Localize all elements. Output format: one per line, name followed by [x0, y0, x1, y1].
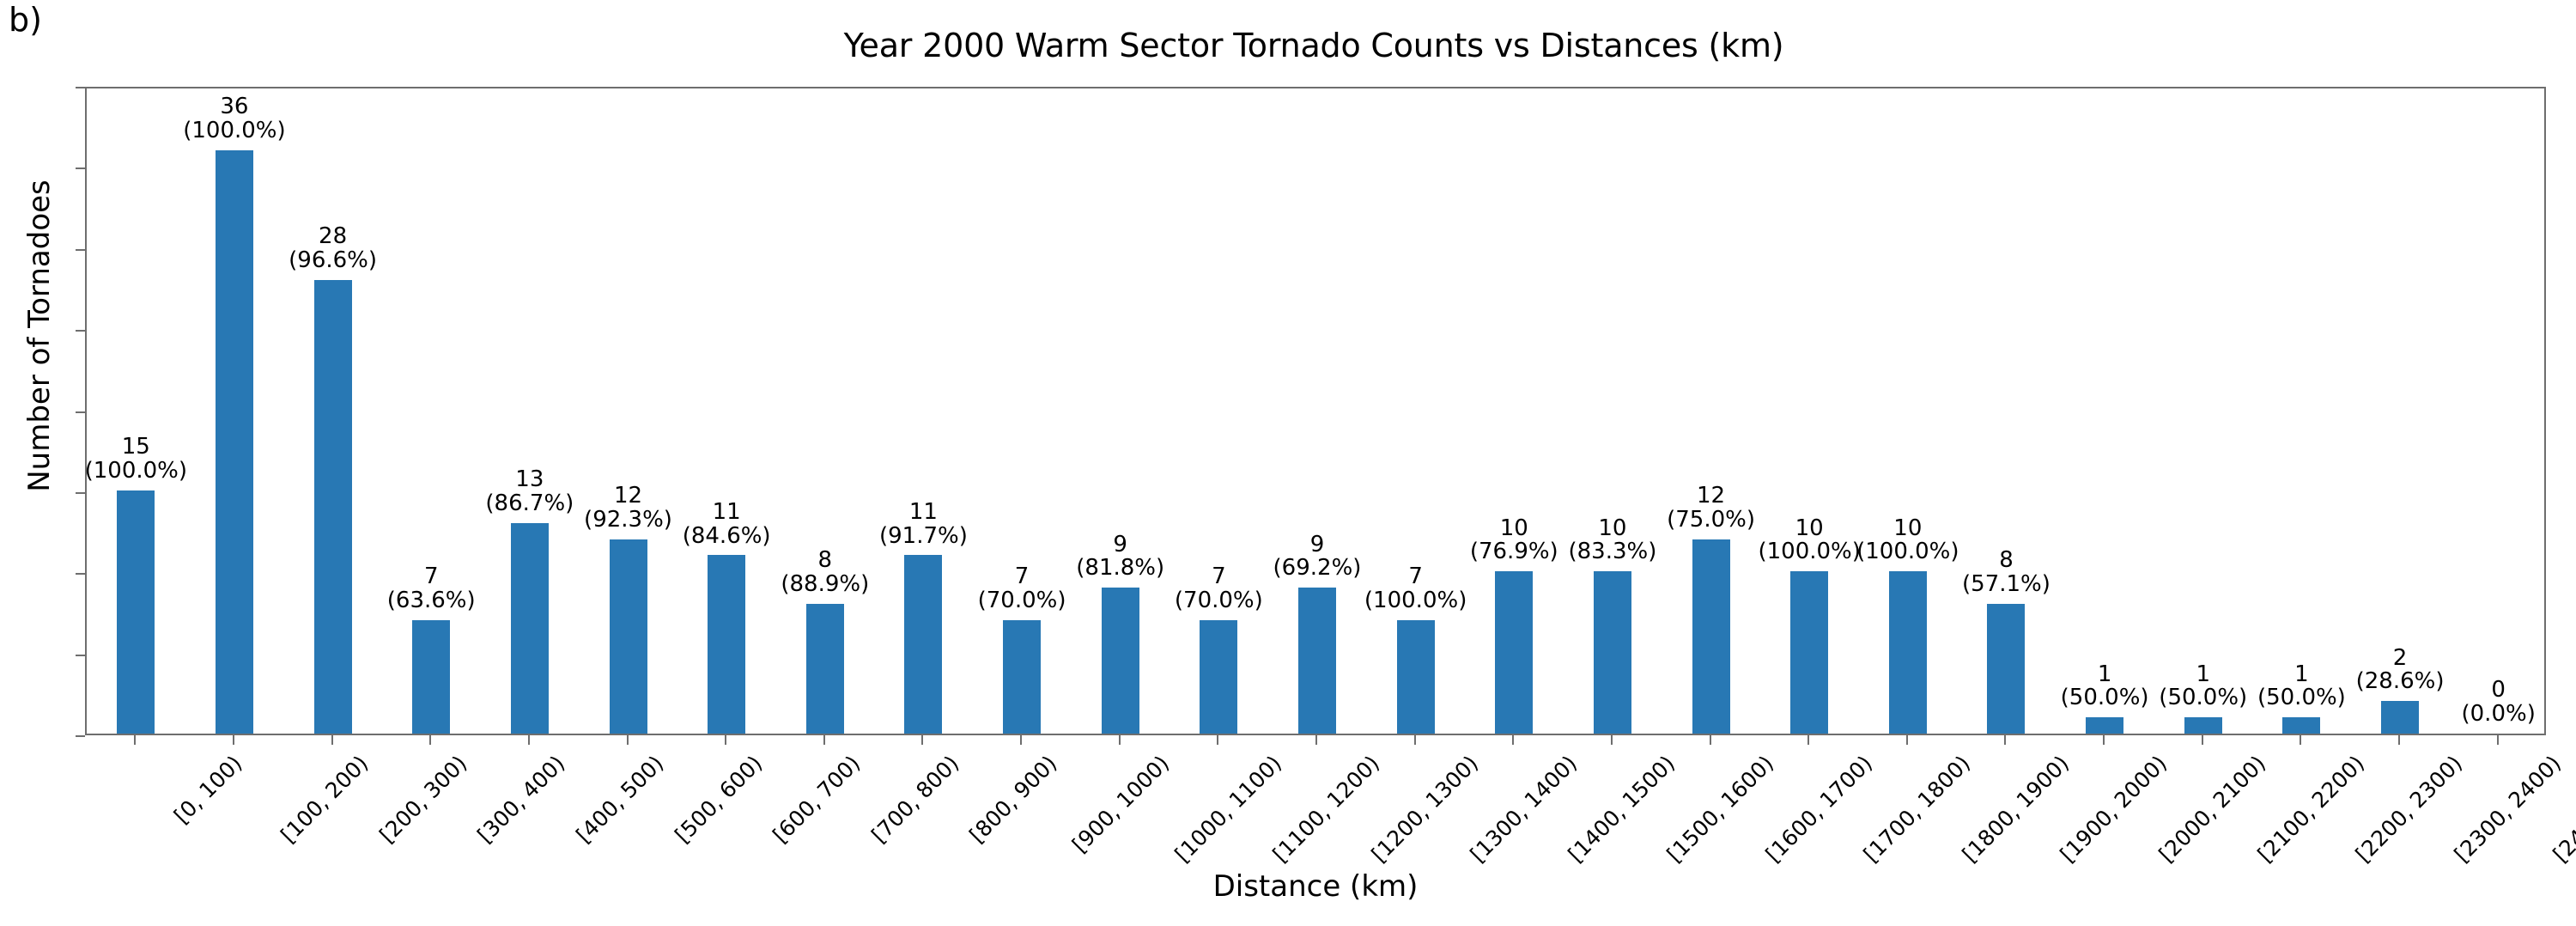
bar[interactable]	[1298, 588, 1336, 734]
bar-count: 12	[1667, 484, 1755, 509]
bar-percent: (50.0%)	[2061, 686, 2149, 710]
bar-slot: 15(100.0%)	[87, 88, 185, 734]
y-tick-mark	[76, 168, 85, 169]
x-tick-label: [700, 800)	[866, 751, 963, 848]
y-tick-mark	[76, 573, 85, 575]
bar-count: 1	[2061, 663, 2149, 687]
bar[interactable]	[904, 555, 942, 734]
bar-slot: 7(70.0%)	[973, 88, 1072, 734]
bar-count: 8	[1962, 549, 2050, 573]
bar-value-label: 9(69.2%)	[1273, 533, 1362, 582]
bar-percent: (50.0%)	[2257, 686, 2346, 710]
bar-value-label: 9(81.8%)	[1076, 533, 1164, 582]
x-tick-mark	[1512, 735, 1514, 745]
x-tick-label: [500, 600)	[670, 751, 767, 848]
bar-percent: (70.0%)	[978, 589, 1066, 613]
bar-value-label: 15(100.0%)	[85, 436, 187, 484]
bar[interactable]	[1102, 588, 1139, 734]
bar-percent: (86.7%)	[485, 492, 574, 516]
bar-count: 0	[2462, 679, 2536, 703]
panel-letter: b)	[9, 3, 42, 36]
bar-value-label: 7(70.0%)	[1175, 565, 1263, 613]
x-tick-label: [200, 300)	[374, 751, 471, 848]
bar[interactable]	[2184, 717, 2222, 734]
bar-count: 10	[1568, 517, 1656, 541]
x-tick-mark	[1119, 735, 1121, 745]
x-tick-label: [400, 500)	[571, 751, 668, 848]
bar-slot: 1(50.0%)	[2154, 88, 2252, 734]
bar-value-label: 10(100.0%)	[1758, 517, 1860, 565]
x-tick-mark	[1906, 735, 1908, 745]
x-tick-mark	[627, 735, 629, 745]
bar-percent: (0.0%)	[2462, 703, 2536, 727]
bar[interactable]	[2282, 717, 2320, 734]
x-tick-mark	[2202, 735, 2203, 745]
bar-count: 15	[85, 436, 187, 460]
x-tick-mark	[2398, 735, 2400, 745]
x-tick-mark	[1315, 735, 1317, 745]
bar-percent: (50.0%)	[2159, 686, 2247, 710]
bar[interactable]	[1594, 571, 1631, 734]
x-tick-mark	[823, 735, 825, 745]
x-axis-label: Distance (km)	[85, 869, 2546, 904]
bar[interactable]	[314, 280, 352, 734]
bar[interactable]	[216, 150, 253, 734]
bar-slot: 12(75.0%)	[1662, 88, 1760, 734]
bar-percent: (92.3%)	[584, 509, 672, 533]
y-tick-mark	[76, 655, 85, 656]
plot-area: 15(100.0%)36(100.0%)28(96.6%)7(63.6%)13(…	[85, 87, 2546, 735]
bar-count: 9	[1076, 533, 1164, 557]
bar-count: 11	[879, 501, 968, 525]
bar-percent: (69.2%)	[1273, 557, 1362, 581]
bar-value-label: 2(28.6%)	[2356, 647, 2445, 695]
bars-layer: 15(100.0%)36(100.0%)28(96.6%)7(63.6%)13(…	[87, 88, 2544, 734]
bar-percent: (100.0%)	[1364, 589, 1467, 613]
bar[interactable]	[1003, 620, 1041, 734]
bar-percent: (91.7%)	[879, 525, 968, 549]
x-tick-label: [300, 400)	[473, 751, 570, 848]
bar[interactable]	[2086, 717, 2123, 734]
bar-value-label: 0(0.0%)	[2462, 679, 2536, 727]
x-tick-label: [100, 200)	[276, 751, 373, 848]
x-tick-mark	[2497, 735, 2499, 745]
y-tick-mark	[76, 249, 85, 251]
x-tick-mark	[1807, 735, 1809, 745]
bar[interactable]	[1692, 539, 1730, 734]
bar-percent: (57.1%)	[1962, 573, 2050, 597]
y-tick-mark	[76, 735, 85, 737]
bar-value-label: 11(84.6%)	[683, 501, 771, 549]
y-tick-mark	[76, 411, 85, 413]
bar-value-label: 7(100.0%)	[1364, 565, 1467, 613]
x-tick-mark	[1020, 735, 1022, 745]
bar-value-label: 1(50.0%)	[2257, 663, 2346, 711]
bar-slot: 11(84.6%)	[677, 88, 776, 734]
chart-title: Year 2000 Warm Sector Tornado Counts vs …	[77, 28, 2550, 64]
bar-value-label: 8(88.9%)	[781, 549, 869, 597]
bar-count: 8	[781, 549, 869, 573]
bar-value-label: 10(83.3%)	[1568, 517, 1656, 565]
bar-slot: 11(91.7%)	[874, 88, 973, 734]
bar-slot: 1(50.0%)	[2252, 88, 2351, 734]
bar-value-label: 28(96.6%)	[289, 225, 377, 273]
x-tick-mark	[2004, 735, 2006, 745]
bar-percent: (76.9%)	[1470, 540, 1558, 564]
bar-percent: (83.3%)	[1568, 540, 1656, 564]
x-tick-mark	[725, 735, 726, 745]
bar[interactable]	[511, 523, 549, 734]
x-tick-mark	[331, 735, 333, 745]
bar-count: 7	[1364, 565, 1467, 589]
bar-slot: 36(100.0%)	[185, 88, 284, 734]
bar-count: 7	[387, 565, 476, 589]
x-tick-mark	[1414, 735, 1416, 745]
bar-slot: 9(69.2%)	[1268, 88, 1367, 734]
bar-count: 7	[1175, 565, 1263, 589]
x-tick-mark	[2300, 735, 2301, 745]
bar-value-label: 12(75.0%)	[1667, 484, 1755, 533]
bar-percent: (100.0%)	[1758, 540, 1860, 564]
bar-slot: 9(81.8%)	[1071, 88, 1170, 734]
x-tick-label: [0, 100)	[169, 751, 247, 829]
bar[interactable]	[1200, 620, 1237, 734]
bar-slot: 10(100.0%)	[1859, 88, 1958, 734]
bar-slot: 8(57.1%)	[1957, 88, 2056, 734]
bar-slot: 7(70.0%)	[1170, 88, 1268, 734]
bar-percent: (84.6%)	[683, 525, 771, 549]
bar-count: 9	[1273, 533, 1362, 557]
y-tick-mark	[76, 492, 85, 494]
x-tick-mark	[921, 735, 923, 745]
bar-value-label: 8(57.1%)	[1962, 549, 2050, 597]
x-tick-mark	[1611, 735, 1613, 745]
bar[interactable]	[1987, 604, 2025, 734]
x-tick-mark	[429, 735, 431, 745]
bar-percent: (75.0%)	[1667, 509, 1755, 533]
x-tick-label: [600, 700)	[768, 751, 865, 848]
bar-count: 11	[683, 501, 771, 525]
y-axis-label: Number of Tornadoes	[22, 61, 57, 611]
bar-slot: 1(50.0%)	[2056, 88, 2154, 734]
bar-slot: 2(28.6%)	[2351, 88, 2450, 734]
bar-percent: (88.9%)	[781, 573, 869, 597]
bar-value-label: 10(76.9%)	[1470, 517, 1558, 565]
chart-figure: b) Year 2000 Warm Sector Tornado Counts …	[0, 0, 2576, 926]
bar[interactable]	[1397, 620, 1435, 734]
bar-slot: 13(86.7%)	[481, 88, 580, 734]
bar[interactable]	[610, 539, 647, 734]
bar-value-label: 7(70.0%)	[978, 565, 1066, 613]
bar[interactable]	[1889, 571, 1927, 734]
bar-percent: (70.0%)	[1175, 589, 1263, 613]
bar-slot: 12(92.3%)	[579, 88, 677, 734]
bar-percent: (100.0%)	[1856, 540, 1959, 564]
bar-value-label: 13(86.7%)	[485, 468, 574, 516]
bar-percent: (100.0%)	[183, 119, 285, 143]
bar-count: 7	[978, 565, 1066, 589]
x-tick-mark	[1710, 735, 1711, 745]
bar-percent: (63.6%)	[387, 589, 476, 613]
bar[interactable]	[412, 620, 450, 734]
bar-value-label: 11(91.7%)	[879, 501, 968, 549]
bar-percent: (28.6%)	[2356, 670, 2445, 694]
bar-slot: 10(76.9%)	[1465, 88, 1564, 734]
bar-count: 2	[2356, 647, 2445, 671]
bar-slot: 7(100.0%)	[1366, 88, 1465, 734]
bar-count: 10	[1856, 517, 1959, 541]
bar-value-label: 36(100.0%)	[183, 95, 285, 143]
bar-count: 28	[289, 225, 377, 249]
bar[interactable]	[117, 490, 155, 734]
bar-count: 1	[2257, 663, 2346, 687]
bar[interactable]	[708, 555, 745, 734]
bar-value-label: 12(92.3%)	[584, 484, 672, 533]
bar-slot: 10(83.3%)	[1564, 88, 1662, 734]
bar-value-label: 1(50.0%)	[2159, 663, 2247, 711]
bar-count: 36	[183, 95, 285, 119]
x-tick-mark	[1217, 735, 1218, 745]
x-tick-label: [800, 900)	[965, 751, 1062, 848]
bar-percent: (81.8%)	[1076, 557, 1164, 581]
bar[interactable]	[1790, 571, 1828, 734]
bar-percent: (100.0%)	[85, 460, 187, 484]
bar-percent: (96.6%)	[289, 249, 377, 273]
bar-count: 10	[1758, 517, 1860, 541]
bar[interactable]	[806, 604, 844, 734]
bar-slot: 8(88.9%)	[775, 88, 874, 734]
bar-count: 13	[485, 468, 574, 492]
x-tick-mark	[528, 735, 530, 745]
bar-slot: 7(63.6%)	[382, 88, 481, 734]
bar-slot: 10(100.0%)	[1760, 88, 1859, 734]
bar-value-label: 10(100.0%)	[1856, 517, 1959, 565]
y-tick-mark	[76, 330, 85, 332]
bar-count: 12	[584, 484, 672, 509]
bar-count: 1	[2159, 663, 2247, 687]
bar-slot: 0(0.0%)	[2449, 88, 2548, 734]
bar[interactable]	[1495, 571, 1533, 734]
x-tick-mark	[233, 735, 234, 745]
bar[interactable]	[2381, 701, 2419, 734]
bar-slot: 28(96.6%)	[283, 88, 382, 734]
x-tick-mark	[2103, 735, 2105, 745]
x-tick-mark	[134, 735, 136, 745]
bar-value-label: 7(63.6%)	[387, 565, 476, 613]
x-tick-label: [900, 1000)	[1067, 751, 1174, 857]
y-tick-mark	[76, 87, 85, 88]
bar-value-label: 1(50.0%)	[2061, 663, 2149, 711]
bar-count: 10	[1470, 517, 1558, 541]
